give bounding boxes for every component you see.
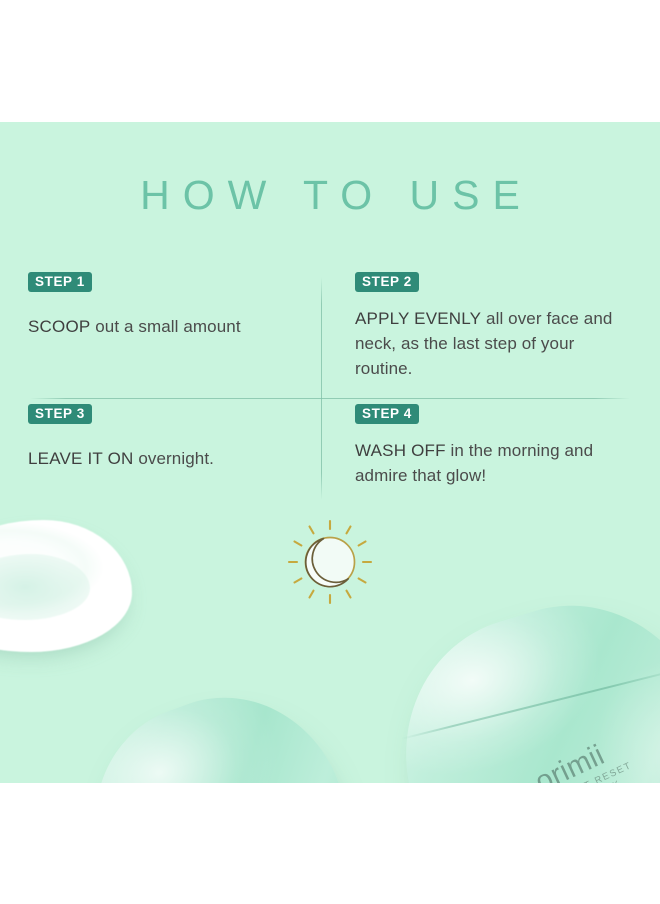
product-jar: orimii OVERNIGHT RESET FACIAL MASK HYDRA…: [371, 572, 660, 783]
step-2-badge: STEP 2: [355, 272, 419, 292]
steps-grid: STEP 1 SCOOP out a small amount STEP 2 A…: [0, 272, 660, 522]
step-2-lead: APPLY EVENLY: [355, 309, 481, 328]
how-to-use-board: HOW TO USE STEP 1 SCOOP out a small amou…: [0, 122, 660, 783]
step-1-text: SCOOP out a small amount: [28, 314, 308, 339]
step-1-badge: STEP 1: [28, 272, 92, 292]
page-root: HOW TO USE STEP 1 SCOOP out a small amou…: [0, 0, 660, 904]
step-1: STEP 1 SCOOP out a small amount: [28, 272, 308, 339]
step-3-lead: LEAVE IT ON: [28, 449, 134, 468]
step-1-lead: SCOOP: [28, 317, 90, 336]
step-4: STEP 4 WASH OFF in the morning and admir…: [355, 404, 635, 488]
crescent-moon-with-rays-icon: [287, 519, 373, 605]
step-1-rest: out a small amount: [90, 317, 240, 336]
product-jar-lid: [61, 665, 381, 783]
step-4-badge: STEP 4: [355, 404, 419, 424]
jar-lid-surface: [61, 665, 381, 783]
step-2-text: APPLY EVENLY all over face and neck, as …: [355, 306, 635, 381]
step-4-lead: WASH OFF: [355, 441, 446, 460]
cream-swatch: [0, 520, 132, 652]
step-2: STEP 2 APPLY EVENLY all over face and ne…: [355, 272, 635, 381]
page-title: HOW TO USE: [0, 172, 660, 219]
step-4-text: WASH OFF in the morning and admire that …: [355, 438, 635, 488]
step-3: STEP 3 LEAVE IT ON overnight.: [28, 404, 308, 471]
step-3-badge: STEP 3: [28, 404, 92, 424]
step-3-text: LEAVE IT ON overnight.: [28, 446, 308, 471]
step-3-rest: overnight.: [134, 449, 214, 468]
